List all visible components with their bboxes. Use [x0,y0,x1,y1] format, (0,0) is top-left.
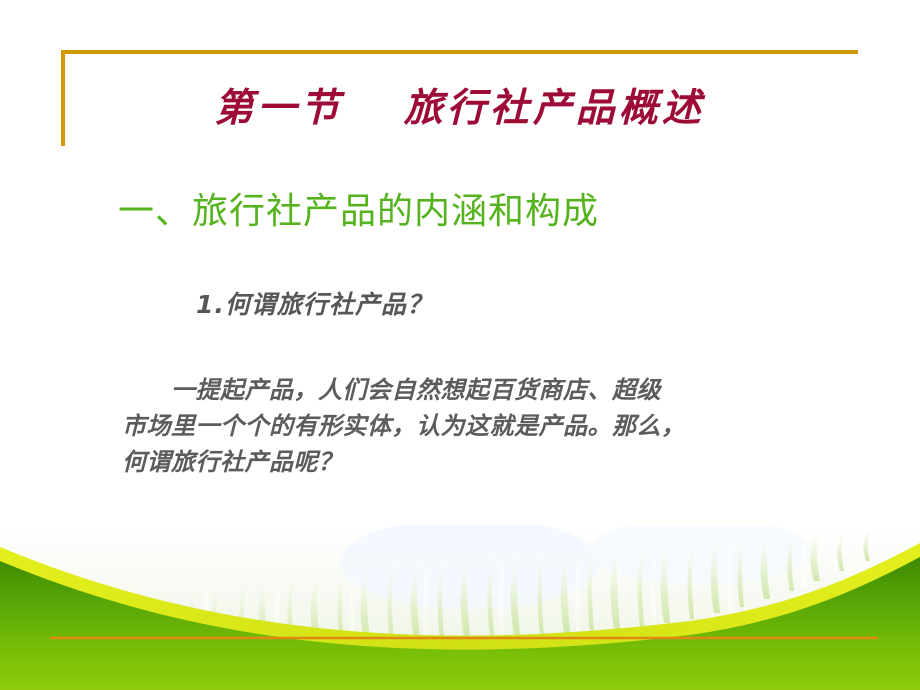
body-line: 何谓旅行社产品呢？ [122,444,822,480]
slide-canvas: 第一节 旅行社产品概述 一、旅行社产品的内涵和构成 1.何谓旅行社产品？ 一提起… [0,0,920,690]
sub-heading: 1.何谓旅行社产品？ [196,288,433,322]
frame-top-rule [61,50,858,54]
body-paragraph: 一提起产品，人们会自然想起百货商店、超级 市场里一个个的有形实体，认为这就是产品… [122,372,822,480]
body-line: 一提起产品，人们会自然想起百货商店、超级 [122,372,822,408]
section-heading: 一、旅行社产品的内涵和构成 [118,188,599,236]
page-title: 第一节 旅行社产品概述 [61,82,858,134]
body-line: 市场里一个个的有形实体，认为这就是产品。那么， [122,408,822,444]
bottom-decoration [0,525,920,690]
grass-hill-graphic [0,525,920,690]
